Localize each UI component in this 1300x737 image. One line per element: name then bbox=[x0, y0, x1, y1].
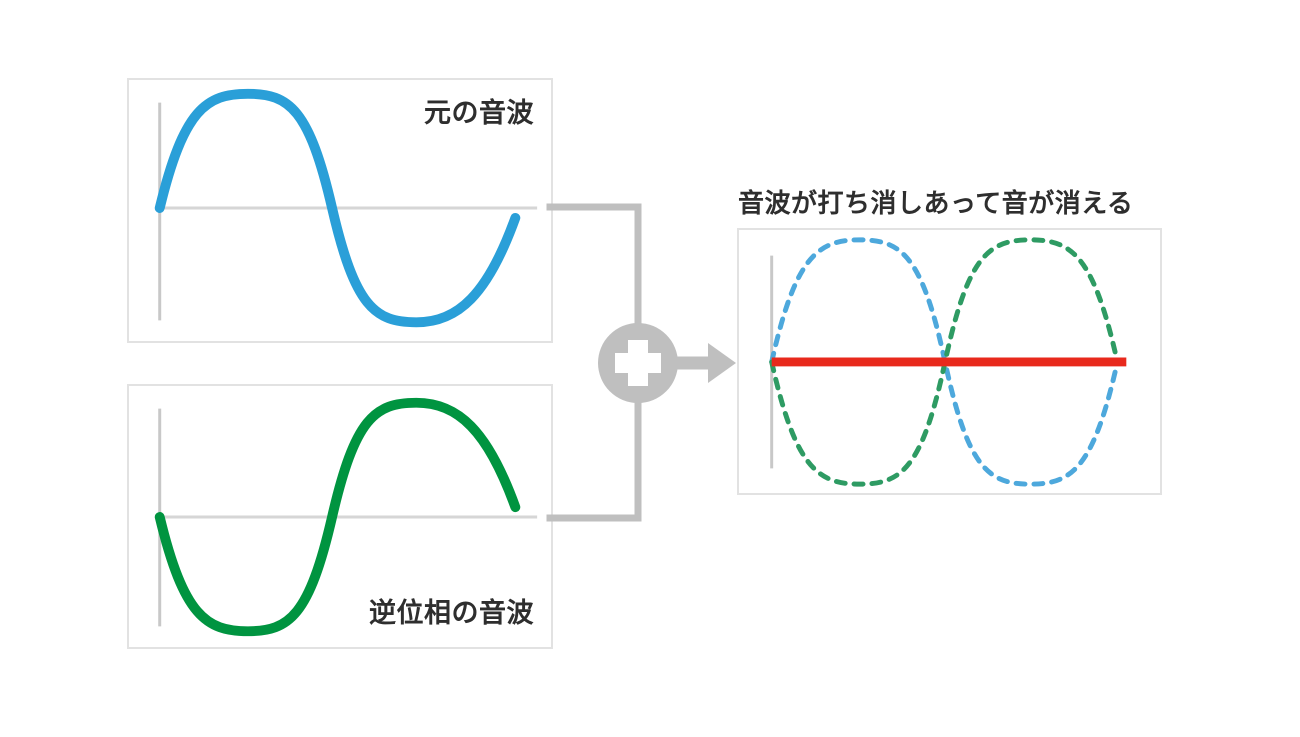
diagram-canvas: 元の音波 逆位相の音波 音波が打ち消しあって音が消える bbox=[0, 0, 1300, 737]
result-panel-title: 音波が打ち消しあって音が消える bbox=[738, 191, 1133, 217]
connector-graphics bbox=[540, 190, 740, 535]
panel-original-caption: 元の音波 bbox=[424, 100, 534, 127]
panel-antiphase-wave: 逆位相の音波 bbox=[127, 384, 553, 649]
panel-result-cancellation bbox=[737, 228, 1162, 495]
result-wave-plot bbox=[739, 230, 1160, 493]
panel-original-wave: 元の音波 bbox=[127, 78, 553, 343]
panel-antiphase-caption: 逆位相の音波 bbox=[369, 600, 534, 627]
combine-connector bbox=[540, 190, 740, 535]
arrow-right-icon bbox=[708, 343, 736, 383]
